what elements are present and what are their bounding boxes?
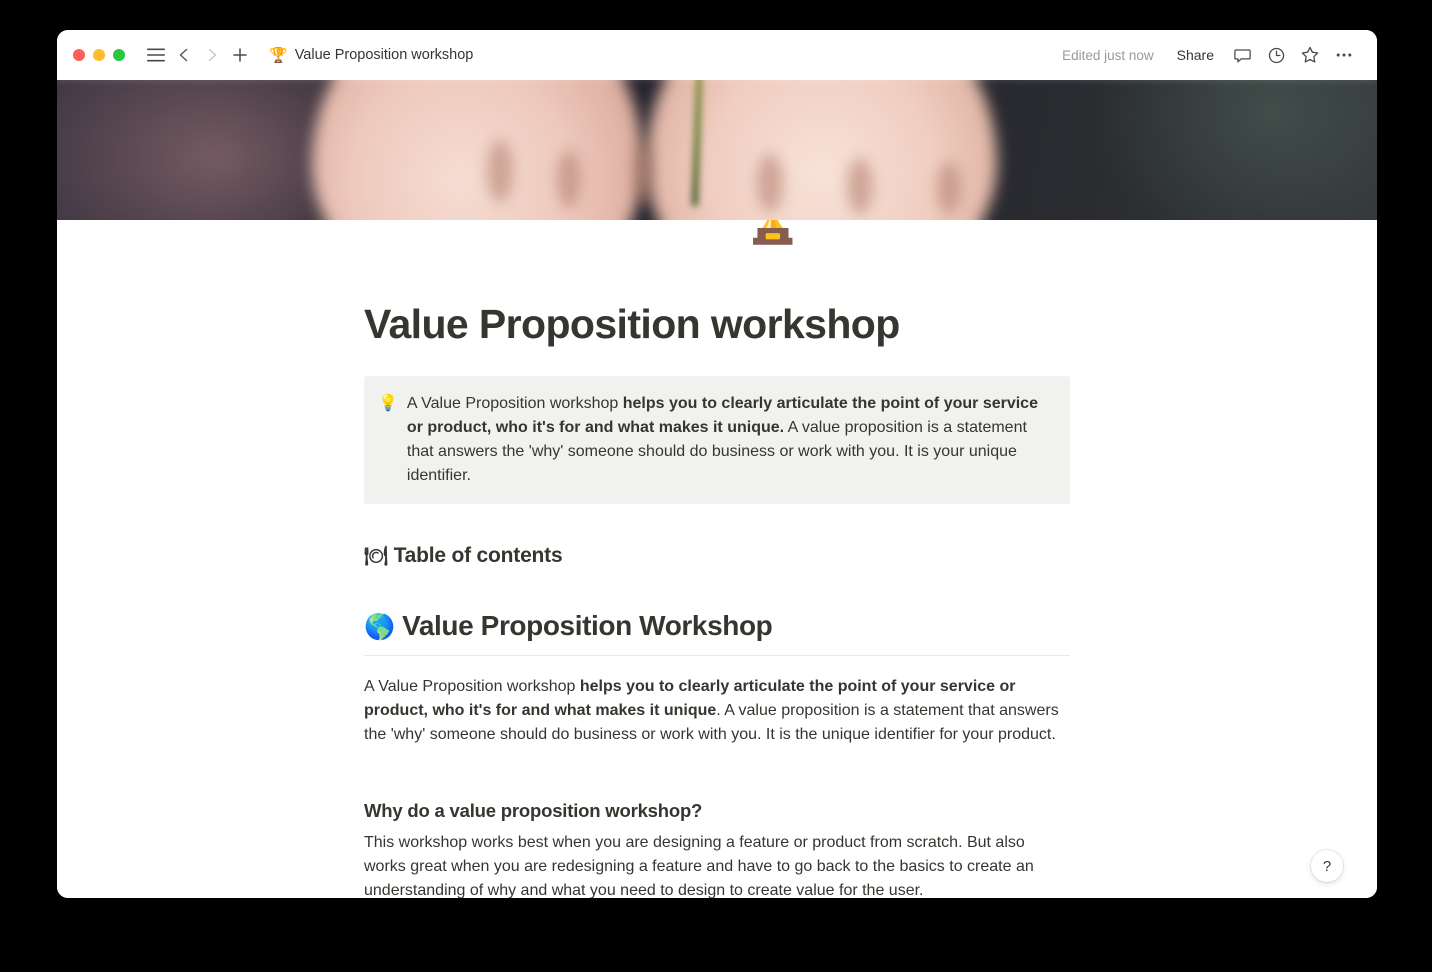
chevron-right-icon bbox=[204, 47, 220, 63]
hamburger-menu-icon bbox=[147, 48, 165, 62]
app-window: 🏆 Value Proposition workshop Edited just… bbox=[57, 30, 1377, 898]
ellipsis-icon bbox=[1334, 45, 1354, 65]
lightbulb-icon: 💡 bbox=[378, 392, 398, 488]
titlebar-actions: Edited just now Share bbox=[1052, 41, 1359, 69]
callout-text: A Value Proposition workshop helps you t… bbox=[407, 392, 1054, 488]
new-page-button[interactable] bbox=[227, 42, 253, 68]
plate-cutlery-icon: 🍽 bbox=[364, 546, 388, 567]
edited-status: Edited just now bbox=[1052, 48, 1164, 63]
subsection-paragraph[interactable]: This workshop works best when you are de… bbox=[364, 831, 1070, 898]
close-window-button[interactable] bbox=[73, 49, 85, 61]
share-button[interactable]: Share bbox=[1168, 42, 1223, 68]
page-content-column: 🏆 Value Proposition workshop 💡 A Value P… bbox=[364, 220, 1070, 898]
section-heading-label: Value Proposition Workshop bbox=[402, 610, 772, 641]
history-button[interactable] bbox=[1261, 41, 1291, 69]
page-body: 🏆 Value Proposition workshop 💡 A Value P… bbox=[57, 220, 1377, 898]
subsection-heading[interactable]: Why do a value proposition workshop? bbox=[364, 800, 1070, 822]
minimize-window-button[interactable] bbox=[93, 49, 105, 61]
comments-button[interactable] bbox=[1227, 41, 1257, 69]
chevron-left-icon bbox=[176, 47, 192, 63]
sidebar-toggle-button[interactable] bbox=[143, 42, 169, 68]
clock-history-icon bbox=[1267, 46, 1286, 65]
favorite-button[interactable] bbox=[1295, 41, 1325, 69]
star-icon bbox=[1300, 45, 1320, 65]
section-heading[interactable]: 🌎 Value Proposition Workshop bbox=[364, 608, 1070, 643]
page-title[interactable]: Value Proposition workshop bbox=[364, 220, 1070, 349]
titlebar: 🏆 Value Proposition workshop Edited just… bbox=[57, 30, 1377, 80]
page-icon-trophy-icon[interactable]: 🏆 bbox=[727, 220, 819, 242]
more-options-button[interactable] bbox=[1329, 41, 1359, 69]
back-button[interactable] bbox=[171, 42, 197, 68]
breadcrumb-title: Value Proposition workshop bbox=[295, 47, 474, 63]
cover-blur-overlay bbox=[57, 80, 1377, 220]
section-heading-block: 🌎 Value Proposition Workshop bbox=[364, 608, 1070, 656]
callout-lead: A Value Proposition workshop bbox=[407, 395, 623, 412]
maximize-window-button[interactable] bbox=[113, 49, 125, 61]
comment-bubble-icon bbox=[1233, 46, 1252, 65]
forward-button[interactable] bbox=[199, 42, 225, 68]
traffic-lights bbox=[65, 49, 125, 61]
table-of-contents-label: Table of contents bbox=[394, 544, 563, 567]
breadcrumb-document-chip[interactable]: 🏆 Value Proposition workshop bbox=[263, 44, 479, 66]
table-of-contents-heading[interactable]: 🍽 Table of contents bbox=[364, 544, 1070, 568]
trophy-icon: 🏆 bbox=[269, 48, 288, 63]
globe-icon: 🌎 bbox=[364, 613, 395, 641]
intro-paragraph[interactable]: A Value Proposition workshop helps you t… bbox=[364, 675, 1070, 747]
callout-block[interactable]: 💡 A Value Proposition workshop helps you… bbox=[364, 376, 1070, 504]
nav-group bbox=[143, 42, 253, 68]
intro-lead: A Value Proposition workshop bbox=[364, 678, 580, 695]
help-button[interactable]: ? bbox=[1311, 850, 1343, 882]
page-cover-image[interactable] bbox=[57, 80, 1377, 220]
plus-icon bbox=[232, 47, 248, 63]
